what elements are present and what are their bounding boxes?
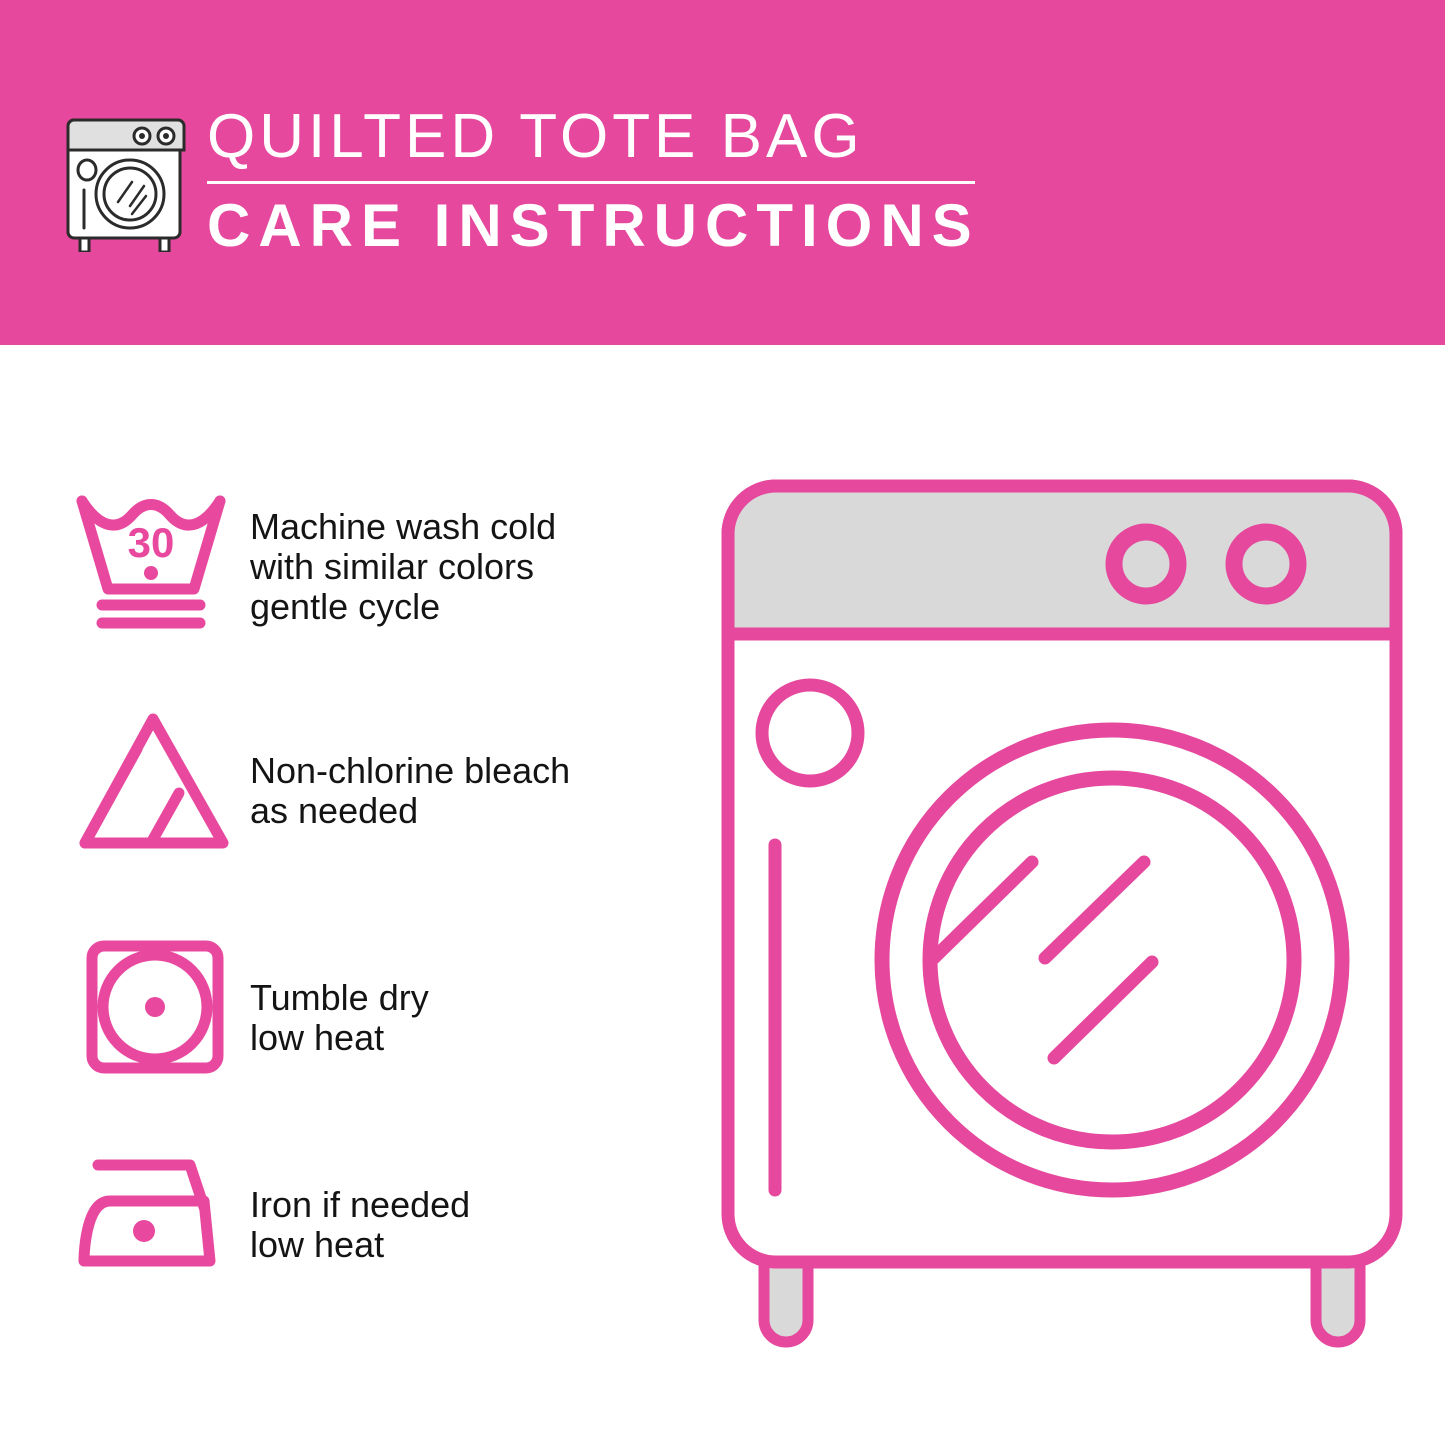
- washer-knob-left: [1114, 532, 1178, 596]
- washing-machine-illustration: [712, 470, 1412, 1370]
- care-label-line: low heat: [250, 1225, 680, 1265]
- header-band: QUILTED TOTE BAG CARE INSTRUCTIONS: [0, 0, 1445, 345]
- care-label-bleach: Non-chlorine bleach as needed: [250, 705, 680, 831]
- care-label-line: low heat: [250, 1018, 680, 1058]
- care-label-line: Non-chlorine bleach: [250, 751, 680, 791]
- care-row-iron: Iron if needed low heat: [60, 1145, 680, 1285]
- care-label-line: Machine wash cold: [250, 507, 680, 547]
- care-row-tumble-dry: Tumble dry low heat: [60, 930, 680, 1080]
- washer-knob-right: [1234, 532, 1298, 596]
- washer-indicator-circle: [762, 685, 858, 781]
- iron-low-heat-icon: [60, 1145, 250, 1285]
- care-label-line: Tumble dry: [250, 978, 680, 1018]
- care-label-machine-wash: Machine wash cold with similar colors ge…: [250, 485, 680, 627]
- care-instructions-list: 30 Machine wash cold with similar colors…: [0, 345, 700, 1445]
- washer-leg-left: [764, 1260, 808, 1342]
- non-chlorine-bleach-triangle-icon: [60, 705, 250, 855]
- care-row-machine-wash: 30 Machine wash cold with similar colors…: [60, 485, 680, 635]
- care-label-line: as needed: [250, 791, 680, 831]
- tumble-dry-low-heat-icon: [60, 930, 250, 1080]
- wash-temperature-label: 30: [128, 519, 175, 566]
- care-row-bleach: Non-chlorine bleach as needed: [60, 705, 680, 855]
- page-subtitle: CARE INSTRUCTIONS: [207, 193, 997, 259]
- washer-door-inner-ring: [930, 778, 1294, 1142]
- care-label-tumble-dry: Tumble dry low heat: [250, 930, 680, 1058]
- care-instructions-page: QUILTED TOTE BAG CARE INSTRUCTIONS 30: [0, 0, 1445, 1445]
- washing-machine-icon: [60, 104, 192, 252]
- wash-tub-30-gentle-icon: 30: [60, 485, 250, 635]
- washer-leg-right: [1316, 1260, 1360, 1342]
- page-title: QUILTED TOTE BAG: [207, 100, 997, 174]
- care-label-iron: Iron if needed low heat: [250, 1145, 680, 1265]
- header-text-block: QUILTED TOTE BAG CARE INSTRUCTIONS: [207, 100, 997, 259]
- care-label-line: Iron if needed: [250, 1185, 680, 1225]
- care-label-line: with similar colors: [250, 547, 680, 587]
- care-label-line: gentle cycle: [250, 587, 680, 627]
- title-divider: [207, 181, 975, 184]
